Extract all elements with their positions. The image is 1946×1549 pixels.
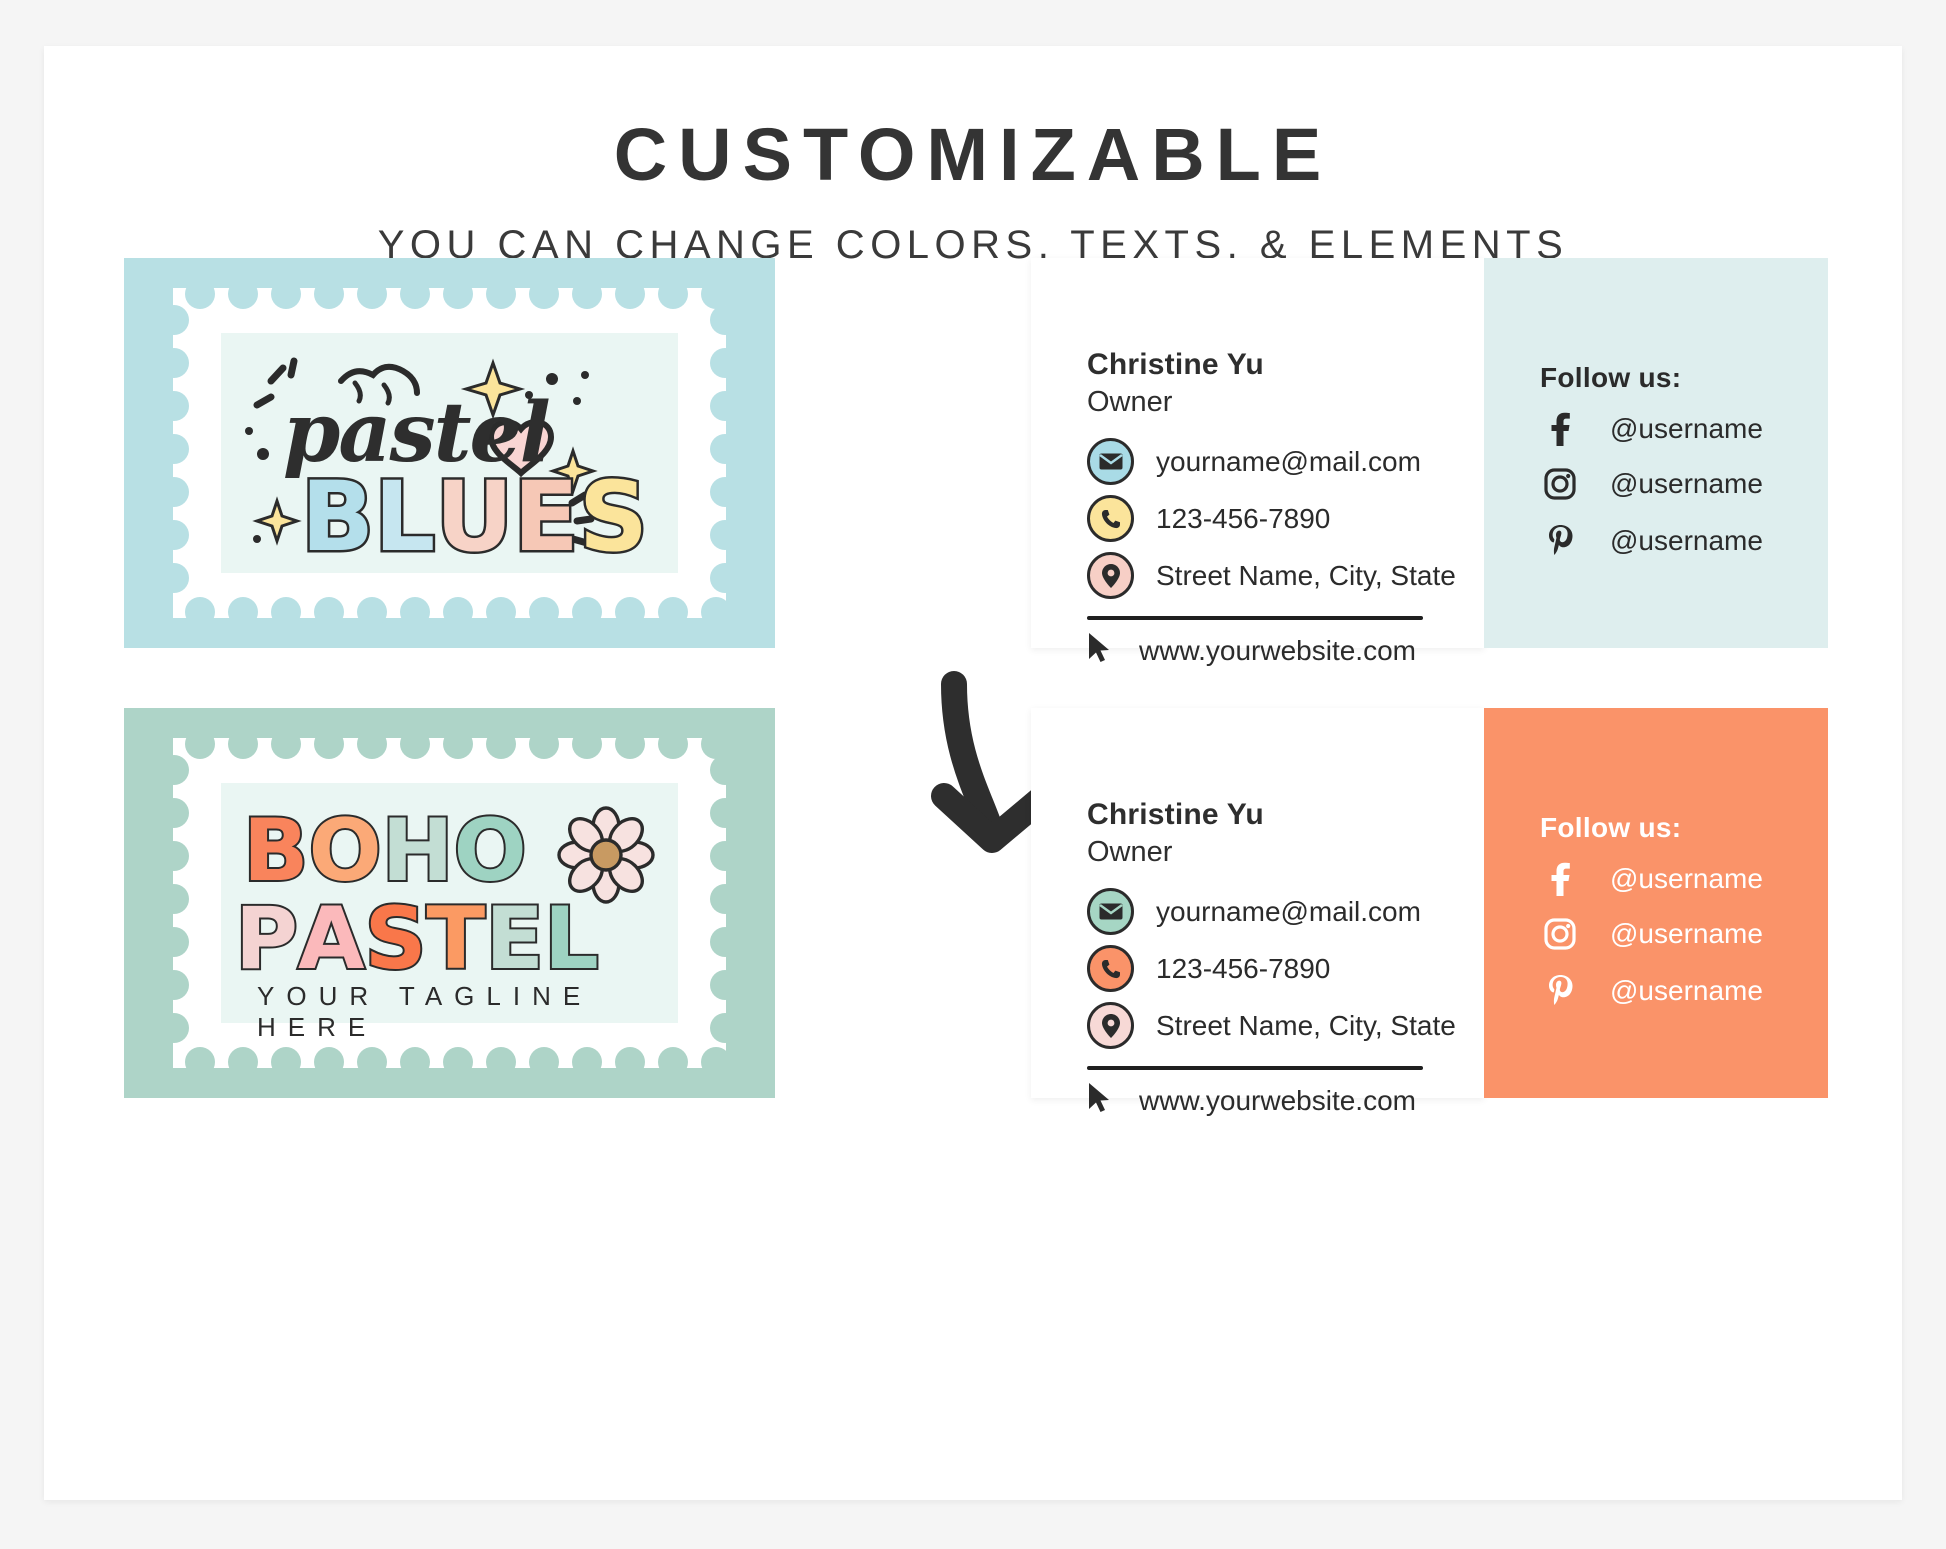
stamp-scallop bbox=[271, 1047, 301, 1077]
stamp-scallop bbox=[314, 279, 344, 309]
stamp-scallop bbox=[271, 279, 301, 309]
stamp-scallop bbox=[615, 597, 645, 627]
stamp-scallop bbox=[710, 841, 740, 871]
stamp-scallop bbox=[159, 563, 189, 593]
stamp-scallop bbox=[710, 563, 740, 593]
contact-email[interactable]: yourname@mail.com bbox=[1087, 888, 1421, 935]
stamp-scallop bbox=[443, 1047, 473, 1077]
social-handle: @username bbox=[1610, 975, 1763, 1007]
stamp-scallop bbox=[185, 279, 215, 309]
contact-website[interactable]: www.yourwebsite.com bbox=[1087, 1082, 1416, 1119]
pinterest-icon bbox=[1540, 974, 1580, 1008]
stamp-scallop bbox=[710, 927, 740, 957]
stamp-scallop bbox=[357, 729, 387, 759]
divider bbox=[1087, 616, 1423, 620]
person-name: Christine Yu bbox=[1087, 798, 1264, 832]
stamp-scallop bbox=[159, 798, 189, 828]
contact-website[interactable]: www.yourwebsite.com bbox=[1087, 632, 1416, 669]
stamp-scallop bbox=[271, 597, 301, 627]
logo-tagline: YOUR TAGLINE HERE bbox=[257, 981, 678, 1043]
stamp-scallop bbox=[710, 798, 740, 828]
stamp-scallop bbox=[159, 477, 189, 507]
stamp-scallop bbox=[185, 729, 215, 759]
social-facebook[interactable]: @username bbox=[1540, 412, 1763, 446]
stamp-scallop bbox=[710, 520, 740, 550]
pinterest-icon bbox=[1540, 524, 1580, 558]
page-title: CUSTOMIZABLE bbox=[44, 118, 1902, 192]
stamp-scallop bbox=[159, 520, 189, 550]
stamp-art-area: pastel B L U E S bbox=[221, 333, 678, 573]
instagram-icon bbox=[1540, 468, 1580, 500]
logo-letter: P bbox=[235, 889, 298, 989]
logo-line-2: P A S T E L bbox=[235, 889, 599, 989]
stamp-scallop bbox=[710, 391, 740, 421]
stamp-scallop bbox=[228, 597, 258, 627]
logo-line-1: B O H O bbox=[243, 801, 527, 901]
contact-phone-text: 123-456-7890 bbox=[1156, 953, 1330, 985]
logo-letter: T bbox=[427, 889, 486, 989]
stamp-scallop bbox=[185, 1047, 215, 1077]
facebook-icon bbox=[1540, 862, 1580, 896]
stamp-scallop bbox=[400, 279, 430, 309]
stamp-scallop bbox=[615, 279, 645, 309]
stamp-scallop bbox=[159, 841, 189, 871]
logo-letter: H bbox=[382, 801, 454, 901]
stamp-scallop bbox=[572, 729, 602, 759]
stamp-scallop bbox=[400, 729, 430, 759]
location-pin-icon bbox=[1087, 552, 1134, 599]
stamp-scallop bbox=[529, 1047, 559, 1077]
logo-letter: E bbox=[485, 889, 544, 989]
location-pin-icon bbox=[1087, 1002, 1134, 1049]
business-card-boho-pastel: B O H O bbox=[124, 708, 1828, 1098]
stamp-scallop bbox=[529, 279, 559, 309]
stamp-scallop bbox=[159, 884, 189, 914]
facebook-icon bbox=[1540, 412, 1580, 446]
stamp-scallop bbox=[228, 279, 258, 309]
logo-letter: O bbox=[309, 801, 382, 901]
logo-letter: B bbox=[301, 461, 374, 573]
contact-panel: Christine Yu Owner yourname@mail.com 123… bbox=[1031, 258, 1484, 648]
follow-us-label: Follow us: bbox=[1540, 362, 1681, 394]
contact-address[interactable]: Street Name, City, State bbox=[1087, 552, 1456, 599]
stamp-scallop bbox=[710, 348, 740, 378]
logo-letter: E bbox=[513, 461, 579, 573]
envelope-icon bbox=[1087, 438, 1134, 485]
logo-letter: S bbox=[365, 889, 427, 989]
stamp-graphic-boho-pastel: B O H O bbox=[124, 708, 775, 1098]
logo-block-word: B L U E S bbox=[301, 461, 648, 573]
logo-boho-pastel: B O H O bbox=[221, 783, 678, 1023]
follow-us-label: Follow us: bbox=[1540, 812, 1681, 844]
stamp-scallop bbox=[701, 1047, 731, 1077]
stamp-scallop bbox=[710, 305, 740, 335]
stamp-graphic-pastel-blues: pastel B L U E S bbox=[124, 258, 775, 648]
social-handle: @username bbox=[1610, 918, 1763, 950]
social-instagram[interactable]: @username bbox=[1540, 468, 1763, 500]
stamp-scallop bbox=[159, 755, 189, 785]
stamp-scallop bbox=[271, 729, 301, 759]
contact-phone-text: 123-456-7890 bbox=[1156, 503, 1330, 535]
social-handle: @username bbox=[1610, 863, 1763, 895]
contact-email-text: yourname@mail.com bbox=[1156, 446, 1421, 478]
divider bbox=[1087, 1066, 1423, 1070]
stamp-scallop bbox=[159, 305, 189, 335]
stamp-scallop bbox=[228, 729, 258, 759]
envelope-icon bbox=[1087, 888, 1134, 935]
stamp-scallop bbox=[529, 597, 559, 627]
stamp-scallop bbox=[529, 729, 559, 759]
contact-website-text: www.yourwebsite.com bbox=[1139, 1085, 1416, 1117]
contact-website-text: www.yourwebsite.com bbox=[1139, 635, 1416, 667]
stamp-scallop bbox=[486, 597, 516, 627]
contact-phone[interactable]: 123-456-7890 bbox=[1087, 495, 1330, 542]
stamp-scallop bbox=[159, 434, 189, 464]
stamp-scallop bbox=[443, 729, 473, 759]
logo-letter: L bbox=[544, 889, 599, 989]
business-card-pastel-blues: pastel B L U E S Christine Yu Owner bbox=[124, 258, 1828, 648]
stamp-scallop bbox=[710, 1013, 740, 1043]
phone-icon bbox=[1087, 495, 1134, 542]
stamp-scallop bbox=[159, 348, 189, 378]
stamp-scallop bbox=[710, 477, 740, 507]
contact-email-text: yourname@mail.com bbox=[1156, 896, 1421, 928]
stamp-scallop bbox=[486, 729, 516, 759]
social-handle: @username bbox=[1610, 413, 1763, 445]
contact-address-text: Street Name, City, State bbox=[1156, 1010, 1456, 1042]
stamp-scallop bbox=[658, 597, 688, 627]
person-name: Christine Yu bbox=[1087, 348, 1264, 382]
cursor-arrow-icon bbox=[1087, 632, 1113, 669]
social-pinterest[interactable]: @username bbox=[1540, 524, 1763, 558]
stamp-scallop bbox=[710, 884, 740, 914]
stamp-scallop bbox=[159, 391, 189, 421]
stamp-scallop bbox=[443, 279, 473, 309]
social-instagram[interactable]: @username bbox=[1540, 918, 1763, 950]
stamp-scallop bbox=[658, 729, 688, 759]
instagram-icon bbox=[1540, 918, 1580, 950]
logo-letter: L bbox=[374, 461, 435, 573]
header: CUSTOMIZABLE YOU CAN CHANGE COLORS, TEXT… bbox=[44, 46, 1902, 265]
person-role: Owner bbox=[1087, 836, 1172, 869]
stamp-scallop bbox=[443, 597, 473, 627]
social-panel: Follow us: @username @username @username bbox=[1484, 708, 1828, 1098]
stamp-scallop bbox=[658, 279, 688, 309]
stamp-scallop bbox=[710, 755, 740, 785]
logo-letter: S bbox=[579, 461, 648, 573]
stamp-scallop bbox=[159, 1013, 189, 1043]
social-facebook[interactable]: @username bbox=[1540, 862, 1763, 896]
stamp-scallop bbox=[710, 970, 740, 1000]
stamp-scallop bbox=[615, 1047, 645, 1077]
stamp-scallop bbox=[701, 597, 731, 627]
stamp-scallop bbox=[185, 597, 215, 627]
contact-address[interactable]: Street Name, City, State bbox=[1087, 1002, 1456, 1049]
person-role: Owner bbox=[1087, 386, 1172, 419]
stamp-scallop bbox=[159, 927, 189, 957]
social-panel: Follow us: @username @username @username bbox=[1484, 258, 1828, 648]
social-pinterest[interactable]: @username bbox=[1540, 974, 1763, 1008]
stamp-scallop bbox=[357, 597, 387, 627]
stamp-scallop bbox=[357, 279, 387, 309]
stamp-scallop bbox=[400, 597, 430, 627]
logo-pastel-blues: pastel B L U E S bbox=[221, 333, 678, 573]
contact-address-text: Street Name, City, State bbox=[1156, 560, 1456, 592]
stamp-art-area: B O H O bbox=[221, 783, 678, 1023]
contact-panel: Christine Yu Owner yourname@mail.com 123… bbox=[1031, 708, 1484, 1098]
logo-letter: U bbox=[435, 461, 513, 573]
stamp-scallop bbox=[228, 1047, 258, 1077]
mockup-page: CUSTOMIZABLE YOU CAN CHANGE COLORS, TEXT… bbox=[44, 46, 1902, 1500]
stamp-scallop bbox=[486, 1047, 516, 1077]
contact-email[interactable]: yourname@mail.com bbox=[1087, 438, 1421, 485]
stamp-scallop bbox=[357, 1047, 387, 1077]
stamp-scallop bbox=[572, 279, 602, 309]
stamp-scallop bbox=[400, 1047, 430, 1077]
stamp-scallop bbox=[572, 1047, 602, 1077]
logo-letter: A bbox=[298, 889, 365, 989]
stamp-scallop bbox=[159, 970, 189, 1000]
stamp-scallop bbox=[572, 597, 602, 627]
contact-phone[interactable]: 123-456-7890 bbox=[1087, 945, 1330, 992]
cursor-arrow-icon bbox=[1087, 1082, 1113, 1119]
stamp-scallop bbox=[314, 729, 344, 759]
stamp-scallop bbox=[314, 1047, 344, 1077]
stamp-scallop bbox=[615, 729, 645, 759]
phone-icon bbox=[1087, 945, 1134, 992]
logo-letter: B bbox=[243, 801, 309, 901]
stamp-scallop bbox=[710, 434, 740, 464]
stamp-scallop bbox=[658, 1047, 688, 1077]
social-handle: @username bbox=[1610, 468, 1763, 500]
stamp-scallop bbox=[314, 597, 344, 627]
social-handle: @username bbox=[1610, 525, 1763, 557]
stamp-scallop bbox=[486, 279, 516, 309]
logo-letter: O bbox=[454, 801, 527, 901]
